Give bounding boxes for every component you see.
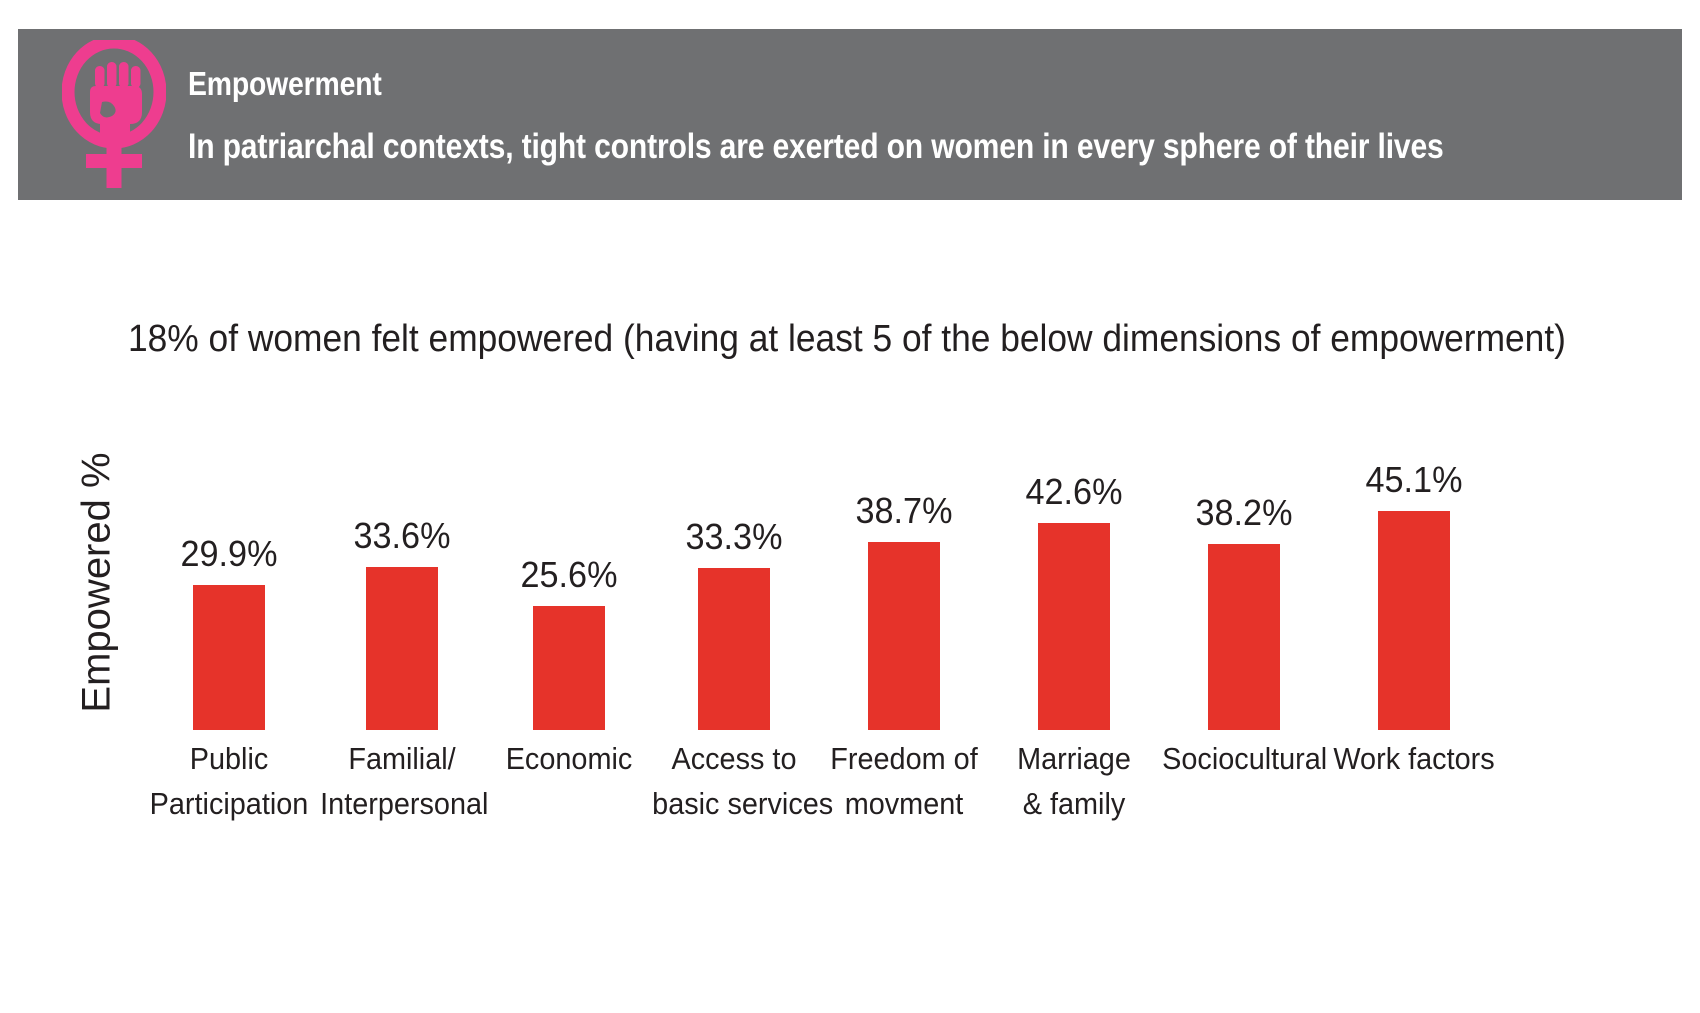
empowerment-bar-chart: Empowered % 29.9% 33.6% 25.6% 33.3% 38.7… [0, 0, 1700, 1013]
x-label-access-to-basic-services: Access to basic services [652, 736, 816, 826]
x-label-familial-interpersonal: Familial/ Interpersonal [320, 736, 484, 826]
bar-value-label: 42.6% [999, 471, 1149, 513]
bar-group: 38.7% [825, 430, 983, 730]
bar-rect[interactable] [1208, 544, 1280, 730]
bar-value-label: 38.7% [829, 490, 979, 532]
bar-group: 42.6% [995, 430, 1153, 730]
bar-rect[interactable] [533, 606, 605, 730]
x-label-line: movment [822, 781, 986, 826]
x-label-economic: Economic [487, 736, 651, 781]
bar-group: 45.1% [1335, 430, 1493, 730]
x-label-line: Sociocultural [1162, 736, 1326, 781]
bar-rect[interactable] [1038, 523, 1110, 730]
x-axis-labels: Public Participation Familial/ Interpers… [150, 736, 1610, 846]
x-label-line: Familial/ [320, 736, 484, 781]
bar-rect[interactable] [868, 542, 940, 730]
x-label-line: Access to [652, 736, 816, 781]
bar-value-label: 25.6% [494, 554, 644, 596]
x-label-line: Interpersonal [320, 781, 484, 826]
bar-value-label: 33.3% [659, 516, 809, 558]
x-label-line: Public [147, 736, 311, 781]
bar-rect[interactable] [366, 567, 438, 730]
x-label-line: Economic [487, 736, 651, 781]
x-label-line: basic services [652, 781, 816, 826]
x-label-freedom-of-movment: Freedom of movment [822, 736, 986, 826]
bar-value-label: 38.2% [1169, 492, 1319, 534]
x-label-sociocultural: Sociocultural [1162, 736, 1326, 781]
chart-plot-area: 29.9% 33.6% 25.6% 33.3% 38.7% 42.6% 38.2… [150, 430, 1610, 730]
bar-group: 38.2% [1165, 430, 1323, 730]
bar-value-label: 29.9% [154, 533, 304, 575]
x-label-line: Freedom of [822, 736, 986, 781]
bar-group: 33.3% [655, 430, 813, 730]
y-axis-label: Empowered % [75, 438, 120, 728]
x-label-work-factors: Work factors [1332, 736, 1496, 781]
bar-rect[interactable] [193, 585, 265, 730]
bar-group: 29.9% [150, 430, 308, 730]
bar-rect[interactable] [698, 568, 770, 730]
x-label-marriage-family: Marriage & family [992, 736, 1156, 826]
bar-value-label: 45.1% [1339, 459, 1489, 501]
x-label-line: & family [992, 781, 1156, 826]
x-label-line: Marriage [992, 736, 1156, 781]
bar-rect[interactable] [1378, 511, 1450, 730]
x-label-line: Participation [147, 781, 311, 826]
x-label-public-participation: Public Participation [147, 736, 311, 826]
bar-group: 25.6% [490, 430, 648, 730]
bar-value-label: 33.6% [327, 515, 477, 557]
x-label-line: Work factors [1332, 736, 1496, 781]
bar-group: 33.6% [323, 430, 481, 730]
